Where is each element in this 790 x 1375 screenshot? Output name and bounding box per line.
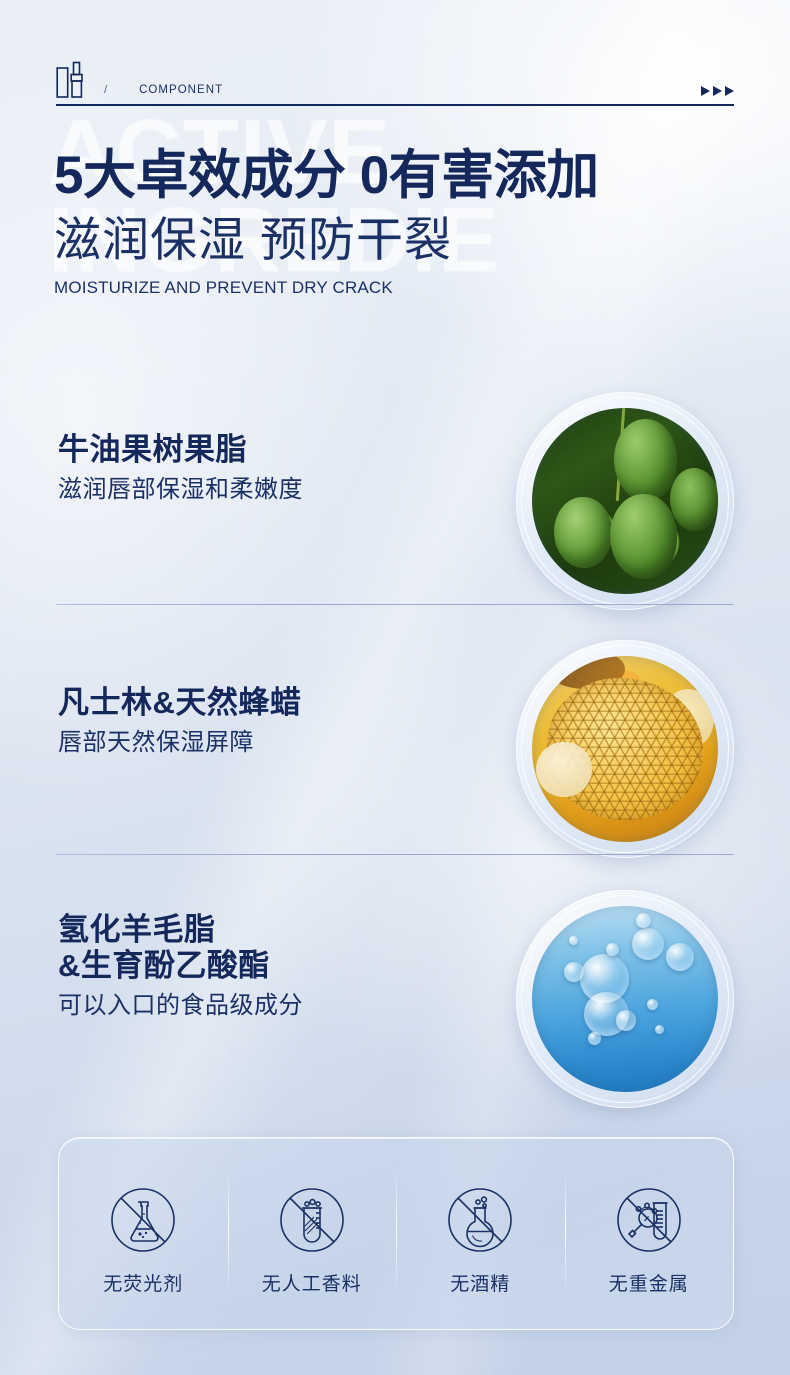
- feature-label-2: 无人工香料: [262, 1269, 362, 1296]
- feature-label-4: 无重金属: [609, 1269, 689, 1296]
- page-subtitle-english: MOISTURIZE AND PREVENT DRY CRACK: [54, 278, 754, 298]
- no-artificial-fragrance-testtube-icon: [273, 1181, 351, 1259]
- header-slash: /: [104, 84, 107, 96]
- ingredient-image-3: [516, 890, 734, 1108]
- page-header: / COMPONENT: [56, 58, 734, 106]
- ingredient-image-1: [516, 392, 734, 610]
- feature-label-3: 无酒精: [450, 1269, 510, 1296]
- ingredient-row-1: 牛油果树果脂 滋润唇部保湿和柔嫩度: [0, 392, 790, 604]
- no-fluorescent-flask-icon: [104, 1181, 182, 1259]
- lipstick-icon: [56, 60, 90, 100]
- ingredient-title-2: 凡士林&天然蜂蜡: [58, 685, 301, 721]
- feature-no-alcohol: 无酒精: [396, 1138, 565, 1329]
- ingredient-desc-1: 滋润唇部保湿和柔嫩度: [58, 474, 303, 505]
- no-alcohol-roundflask-icon: [441, 1181, 519, 1259]
- page-subtitle: 滋润保湿 预防干裂: [54, 211, 754, 268]
- ingredient-title-3b: &生育酚乙酸酯: [58, 948, 303, 984]
- water-bubbles-photo: [532, 906, 718, 1092]
- ingredient-desc-2: 唇部天然保湿屏障: [58, 727, 301, 758]
- no-heavy-metal-magnifier-icon: [610, 1181, 688, 1259]
- feature-no-heavy-metal: 无重金属: [565, 1138, 734, 1329]
- feature-label-1: 无荧光剂: [103, 1269, 183, 1296]
- triple-right-arrow-icon: [701, 86, 734, 96]
- ingredient-title-3a: 氢化羊毛脂: [58, 912, 303, 948]
- ingredient-title-1: 牛油果树果脂: [58, 432, 303, 468]
- ingredient-row-2: 凡士林&天然蜂蜡 唇部天然保湿屏障: [0, 640, 790, 852]
- avocado-photo: [532, 408, 718, 594]
- feature-no-fluorescent: 无荧光剂: [59, 1138, 228, 1329]
- header-label: COMPONENT: [139, 84, 223, 96]
- hero-section: 5大卓效成分 0有害添加 滋润保湿 预防干裂 MOISTURIZE AND PR…: [54, 148, 754, 298]
- ingredient-desc-3: 可以入口的食品级成分: [58, 990, 303, 1021]
- honeycomb-photo: [532, 656, 718, 842]
- feature-no-fragrance: 无人工香料: [228, 1138, 397, 1329]
- ingredient-image-2: [516, 640, 734, 858]
- section-divider-2: [56, 854, 734, 855]
- header-divider: [56, 104, 734, 106]
- page-title: 5大卓效成分 0有害添加: [54, 148, 754, 203]
- ingredient-row-3: 氢化羊毛脂 &生育酚乙酸酯 可以入口的食品级成分: [0, 890, 790, 1102]
- free-from-card: 无荧光剂 无人工香料 无酒精: [58, 1137, 734, 1330]
- section-divider-1: [56, 604, 734, 605]
